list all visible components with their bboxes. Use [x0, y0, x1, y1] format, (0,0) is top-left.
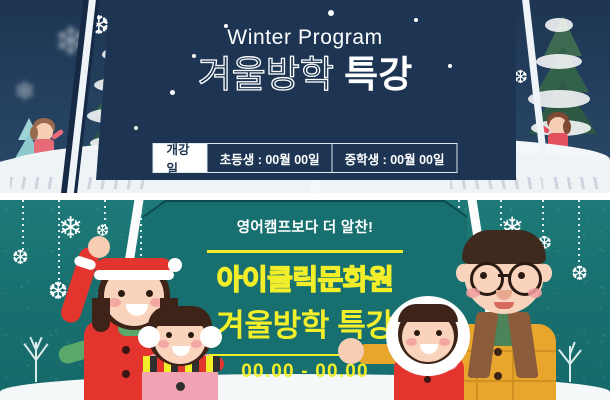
- info-cell-elementary: 초등생 : 00월 00일: [207, 144, 332, 172]
- banner-page: ❄ ❆ ❄: [0, 0, 610, 400]
- title-bold-part: 특강: [344, 54, 412, 95]
- top-banner: ❄ ❆ ❄: [0, 0, 610, 193]
- info-cell-middle-school: 중학생 : 00월 00일: [332, 144, 457, 172]
- page-title: 겨울방학 특강: [0, 54, 610, 95]
- girl-with-earmuffs: [120, 304, 238, 400]
- eyebrow-text: Winter Program: [0, 26, 610, 50]
- title-outline-part: 겨울방학: [198, 54, 334, 95]
- top-title-group: Winter Program 겨울방학 특강: [0, 26, 610, 95]
- bottom-banner: ❆ ❆ ❆ ❆ ❄ ❆ ❆ ❆ ❄ ❆ 영어캠프보다 더 알찬!: [0, 200, 610, 400]
- info-chip-label: 개강일: [154, 144, 207, 172]
- child-in-white-hood: [372, 296, 484, 400]
- divider-top: [207, 250, 403, 253]
- start-date-info-bar: 개강일 초등생 : 00월 00일 중학생 : 00월 00일: [153, 143, 458, 173]
